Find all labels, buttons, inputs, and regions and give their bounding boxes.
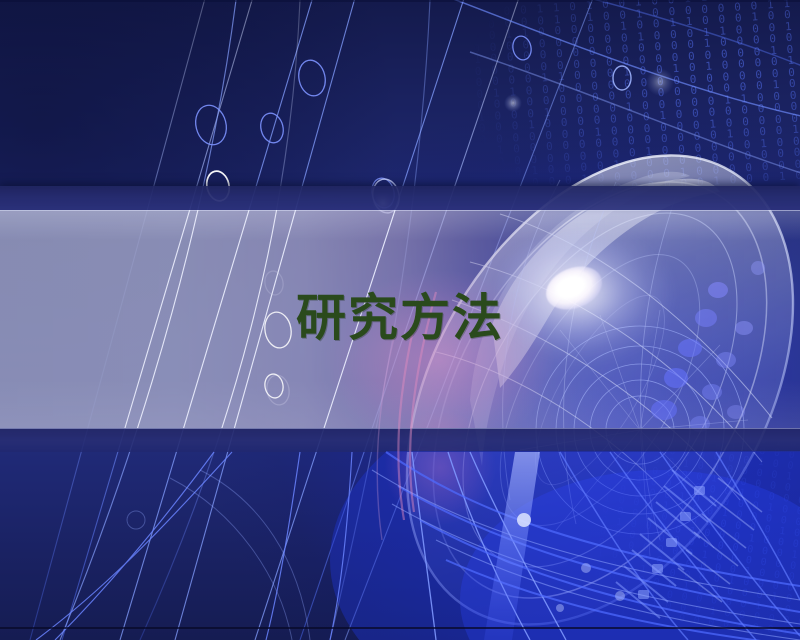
page-title: 研究方法 [296,288,504,348]
bottom-edge-rule [0,627,800,629]
presentation-slide: 0 1 0 0 1 1 0 1 0 0 1 0 0 1 1 0 1 0 0 1 … [0,0,800,640]
top-edge-rule [0,0,800,2]
